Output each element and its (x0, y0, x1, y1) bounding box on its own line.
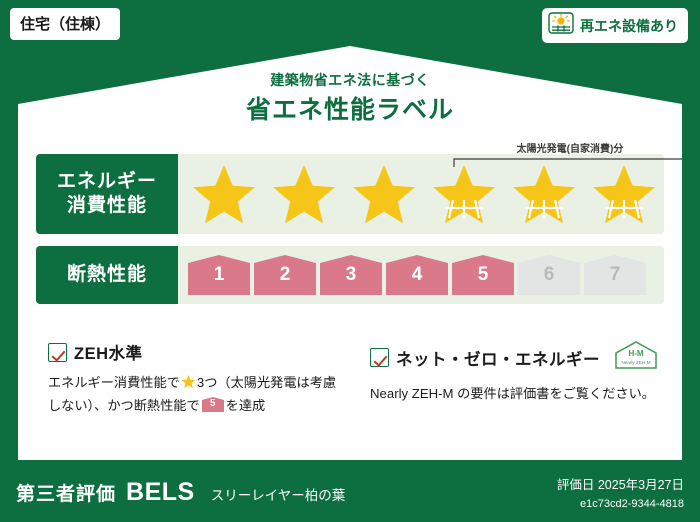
svg-text:Nearly ZEH-M: Nearly ZEH-M (621, 360, 650, 365)
thermal-badge: 2 (254, 255, 316, 295)
solar-generation-note: 太陽光発電(自家消費)分 (450, 140, 690, 155)
star-icon-solar (584, 154, 664, 234)
thermal-performance-label-block: 断熱性能 (36, 246, 178, 304)
solar-sun-icon (548, 12, 574, 39)
renewable-badge-label: 再エネ設備あり (580, 16, 678, 36)
checkbox-checked-icon (48, 343, 67, 362)
page-title: 省エネ性能ラベル (18, 90, 682, 126)
svg-text:H-M: H-M (628, 349, 643, 358)
zeh-standard-body: エネルギー消費性能で3つ（太陽光発電は考慮しない）、かつ断熱性能で5を達成 (48, 373, 348, 417)
thermal-badge-value: 7 (610, 264, 621, 286)
thermal-badge-value: 4 (412, 264, 423, 286)
zeh-standard-heading-row: ZEH水準 (48, 340, 348, 364)
zeh-standard-block: ZEH水準 エネルギー消費性能で3つ（太陽光発電は考慮しない）、かつ断熱性能で5… (48, 340, 348, 417)
energy-performance-row: エネルギー 消費性能 太陽光発電(自家消費)分 (36, 154, 664, 234)
thermal-badge-value: 6 (544, 264, 555, 286)
star-rating (178, 154, 664, 234)
thermal-badge: 3 (320, 255, 382, 295)
net-zero-heading-row: ネット・ゼロ・エネルギー H-M Nearly ZEH-M (370, 340, 670, 375)
thermal-badge-value: 2 (280, 264, 291, 286)
zeh-body-part4: を達成 (226, 398, 266, 413)
star-icon-solar (504, 154, 584, 234)
label-panel: 建築物省エネ法に基づく 省エネ性能ラベル ハウスト エネルギー 消費性能 太陽光… (18, 46, 682, 460)
evaluation-date: 評価日 2025年3月27日 (557, 474, 684, 493)
star-icon (264, 154, 344, 234)
zeh-standard-heading: ZEH水準 (74, 340, 143, 364)
renewable-energy-badge: 再エネ設備あり (542, 8, 688, 43)
label-footer: 第三者評価 BELS スリーレイヤー柏の葉 評価日 2025年3月27日 e1c… (0, 462, 700, 522)
nearly-zeh-m-house-icon: H-M Nearly ZEH-M (613, 340, 659, 375)
energy-performance-label-block: エネルギー 消費性能 (36, 154, 178, 234)
footer-left-group: 第三者評価 BELS スリーレイヤー柏の葉 (16, 478, 345, 507)
energy-label-line2: 消費性能 (67, 194, 147, 218)
thermal-badge-inline: 5 (202, 397, 224, 412)
label-id: e1c73cd2-9344-4818 (557, 498, 684, 510)
zeh-body-part2: 3つ（太陽光発電 (197, 375, 297, 390)
zeh-body-part1: エネルギー消費性能で (48, 375, 180, 390)
thermal-badge: 5 (452, 255, 514, 295)
building-owner-name: スリーレイヤー柏の葉 (211, 484, 346, 504)
panel-subtitle: 建築物省エネ法に基づく (18, 70, 682, 90)
thermal-label: 断熱性能 (67, 263, 147, 287)
net-zero-heading: ネット・ゼロ・エネルギー (396, 346, 600, 370)
star-icon (344, 154, 424, 234)
net-zero-energy-block: ネット・ゼロ・エネルギー H-M Nearly ZEH-M Nearly ZEH… (370, 340, 670, 405)
bels-logo-text: BELS (126, 478, 195, 507)
third-party-evaluation-label: 第三者評価 (16, 479, 116, 506)
thermal-badge-value: 1 (214, 264, 225, 286)
thermal-badge: 4 (386, 255, 448, 295)
thermal-badge-value: 3 (346, 264, 357, 286)
thermal-performance-row: 断熱性能 1 2 3 (36, 246, 664, 304)
thermal-badge-inline-value: 5 (202, 397, 224, 412)
energy-performance-stars-area: 太陽光発電(自家消費)分 (178, 154, 664, 234)
footer-right-group: 評価日 2025年3月27日 e1c73cd2-9344-4818 (557, 474, 684, 510)
energy-performance-label: 住宅（住棟） 再エネ設備 (0, 0, 700, 522)
star-icon-solar (424, 154, 504, 234)
energy-label-line1: エネルギー (57, 170, 157, 194)
thermal-badge: 7 (584, 255, 646, 295)
house-type-tag: 住宅（住棟） (10, 8, 120, 40)
thermal-badge-value: 5 (478, 264, 489, 286)
thermal-badge: 6 (518, 255, 580, 295)
net-zero-body: Nearly ZEH-M の要件は評価書をご覧ください。 (370, 384, 670, 405)
star-icon (184, 154, 264, 234)
star-icon (181, 374, 196, 396)
thermal-badge: 1 (188, 255, 250, 295)
thermal-badge-list: 1 2 3 4 5 (178, 246, 664, 304)
thermal-performance-badges-area: 1 2 3 4 5 (178, 246, 664, 304)
checkbox-checked-icon (370, 348, 389, 367)
